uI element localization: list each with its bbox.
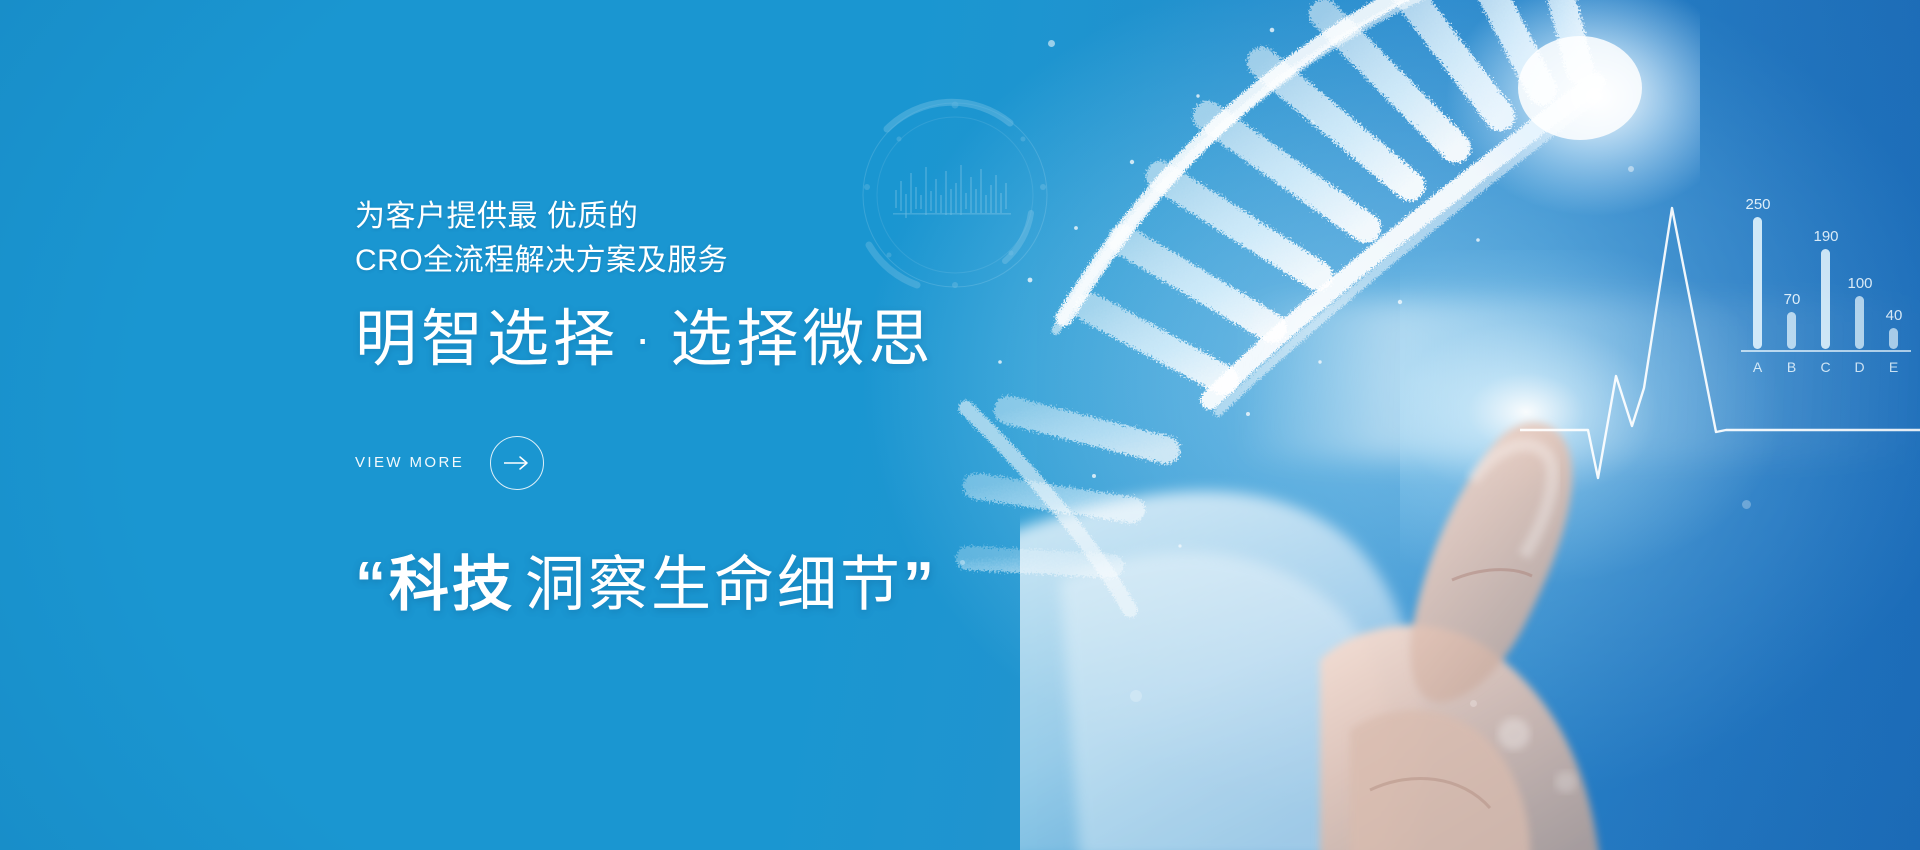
view-more-label: VIEW MORE (355, 454, 464, 471)
hero-copy: 为客户提供最 优质的 CRO全流程解决方案及服务 明智选择·选择微思 VIEW … (355, 195, 1115, 619)
quote-close-mark: ” (903, 550, 937, 619)
quote-strong: 科技 (389, 551, 515, 618)
arrow-right-icon[interactable] (490, 436, 544, 490)
headline-separator: · (619, 312, 670, 364)
subtitle-line-1: 为客户提供最 优质的 (355, 195, 1115, 239)
view-more-button[interactable]: VIEW MORE (355, 436, 544, 490)
headline-right: 选择微思 (670, 305, 934, 374)
hero-headline: 明智选择·选择微思 (355, 306, 1115, 374)
hero-banner: 250 70 190 100 40 A B C D E 为客户提供最 优质的 C… (0, 0, 1920, 850)
hero-subtitle: 为客户提供最 优质的 CRO全流程解决方案及服务 (355, 195, 1115, 284)
subtitle-line-2: CRO全流程解决方案及服务 (355, 239, 1115, 283)
quote-open-mark: “ (355, 550, 389, 619)
hero-quote: “科技洞察生命细节” (355, 552, 1115, 619)
quote-light: 洞察生命细节 (515, 551, 903, 618)
headline-left: 明智选择 (355, 305, 619, 374)
